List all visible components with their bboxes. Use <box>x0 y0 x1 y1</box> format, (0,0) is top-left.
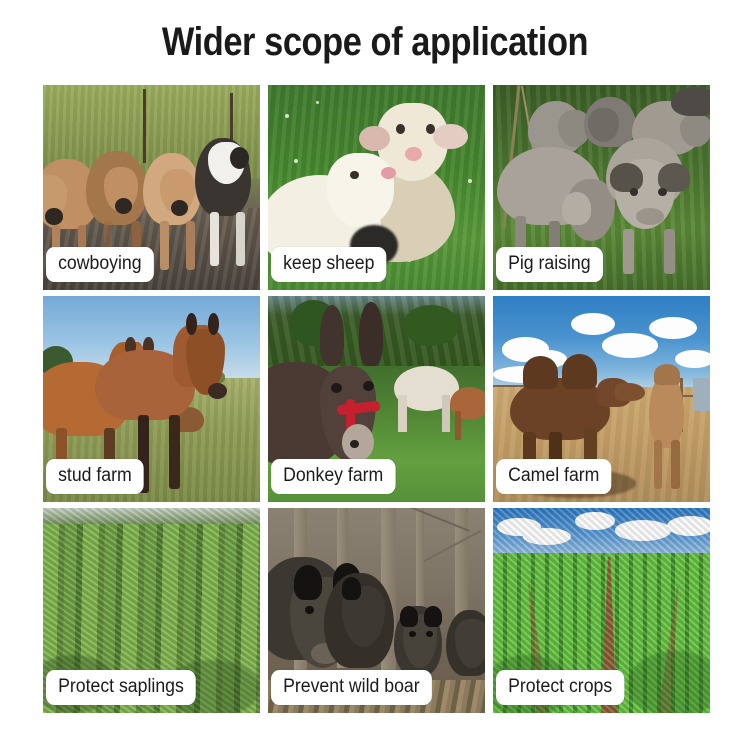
application-grid: cowboying <box>43 85 710 713</box>
application-scope-poster: Wider scope of application <box>0 0 750 750</box>
page-title: Wider scope of application <box>53 20 698 65</box>
grid-cell-camel-farm[interactable]: Camel farm <box>493 296 710 501</box>
cell-label-camel-farm: Camel farm <box>496 459 611 494</box>
grid-cell-pig-raising[interactable]: Pig raising <box>493 85 710 290</box>
grid-cell-protect-crops[interactable]: Protect crops <box>493 508 710 713</box>
grid-cell-stud-farm[interactable]: stud farm <box>43 296 260 501</box>
cell-label-prevent-wild-boar: Prevent wild boar <box>271 670 432 705</box>
cell-label-protect-crops: Protect crops <box>496 670 624 705</box>
grid-cell-protect-saplings[interactable]: Protect saplings <box>43 508 260 713</box>
grid-cell-prevent-wild-boar[interactable]: Prevent wild boar <box>268 508 485 713</box>
cell-label-donkey-farm: Donkey farm <box>271 459 395 494</box>
cell-label-stud-farm: stud farm <box>46 459 144 494</box>
cell-label-protect-saplings: Protect saplings <box>46 670 196 705</box>
cell-label-cowboying: cowboying <box>46 247 154 282</box>
grid-cell-keep-sheep[interactable]: keep sheep <box>268 85 485 290</box>
grid-cell-cowboying[interactable]: cowboying <box>43 85 260 290</box>
cell-label-keep-sheep: keep sheep <box>271 247 387 282</box>
cell-label-pig-raising: Pig raising <box>496 247 603 282</box>
grid-cell-donkey-farm[interactable]: Donkey farm <box>268 296 485 501</box>
